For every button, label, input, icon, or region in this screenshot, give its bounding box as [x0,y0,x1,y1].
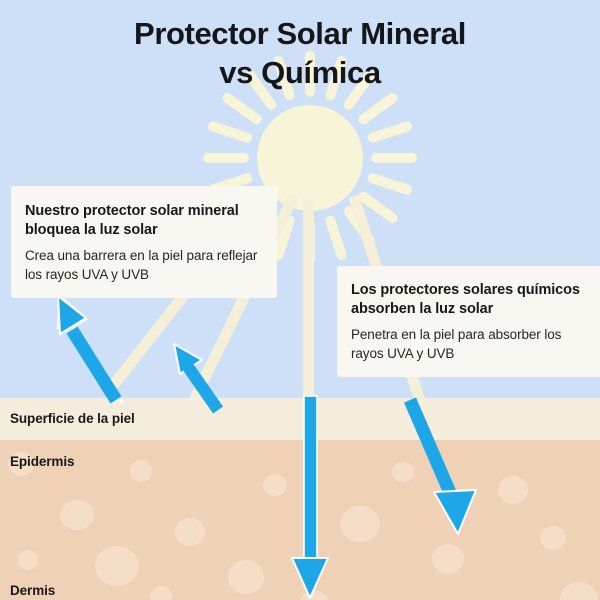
skin-texture-blob [540,526,566,550]
skin-texture-blob [263,474,287,496]
skin-texture-blob [228,560,264,594]
skin-texture-blob [560,582,598,600]
light-beam-center [303,200,314,405]
skin-label-epidermis: Epidermis [10,454,74,469]
reflected-ray-arrow-mid [168,330,238,415]
callout-mineral-title: Nuestro protector solar mineral bloquea … [25,202,263,240]
skin-texture-blob [432,544,464,574]
callout-chemical-title: Los protectores solares químicos absorbe… [351,281,589,319]
skin-texture-blob [130,460,152,482]
skin-texture-blob [150,586,172,600]
skin-label-dermis: Dermis [10,583,55,598]
sun-ray [203,153,249,163]
callout-chemical-body: Penetra en la piel para absorber los ray… [351,326,589,363]
skin-texture-blob [498,476,528,504]
sunscreen-infographic: Protector Solar Mineral vs Química Nuest… [0,0,600,600]
absorbed-ray-arrow-center [288,396,332,600]
sun-ray [371,153,417,163]
absorbed-ray-arrow-right [396,394,496,544]
callout-chemical-sunscreen: Los protectores solares químicos absorbe… [337,266,600,377]
skin-texture-blob [340,506,380,542]
skin-texture-blob [95,546,139,586]
skin-texture-blob [18,550,38,570]
reflected-ray-arrow-left [50,290,130,405]
skin-label-surface: Superficie de la piel [10,411,135,426]
callout-mineral-sunscreen: Nuestro protector solar mineral bloquea … [11,186,277,298]
page-title: Protector Solar Mineral vs Química [0,14,600,92]
callout-mineral-body: Crea una barrera en la piel para refleja… [25,247,263,284]
skin-texture-blob [175,518,205,546]
skin-texture-blob [60,500,94,530]
